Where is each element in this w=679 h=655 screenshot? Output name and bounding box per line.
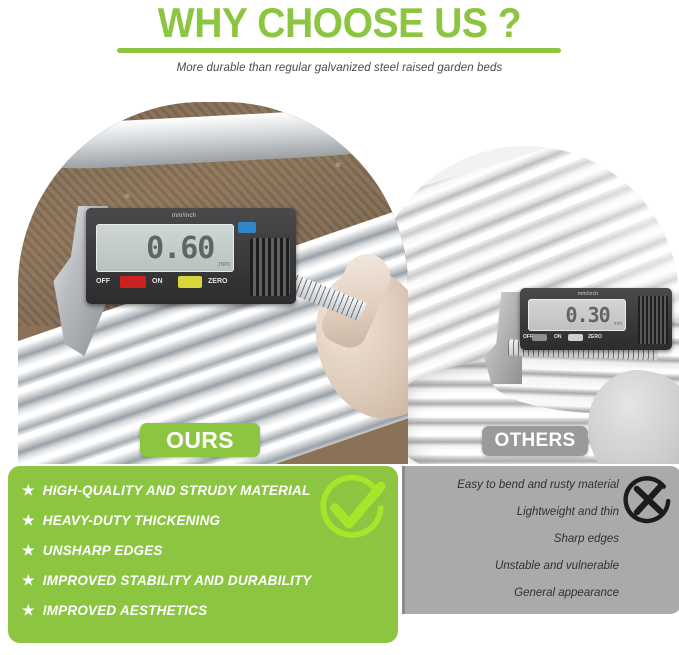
others-list-item: General appearance	[411, 580, 619, 607]
ours-caliper-body: mm/inch 0.60 mm OFF ON ZERO	[86, 208, 296, 304]
others-digital-caliper: mm/inch 0.30 mm OFF ON ZERO	[492, 286, 672, 368]
ours-list-item-label: HEAVY-DUTY THICKENING	[43, 513, 220, 528]
ours-list-item: ★ HIGH-QUALITY AND STRUDY MATERIAL	[22, 475, 390, 505]
ours-list-item-label: UNSHARP EDGES	[43, 543, 163, 558]
ours-caliper-off-button	[120, 276, 146, 288]
others-product-photo: mm/inch 0.30 mm OFF ON ZERO	[372, 146, 679, 464]
page-title: WHY CHOOSE US ?	[24, 1, 655, 45]
ours-badge: OURS	[140, 423, 260, 457]
others-caliper-on-label: ON	[554, 334, 562, 340]
others-caliper-unit: mm	[614, 321, 625, 330]
others-caliper-off-button	[532, 334, 547, 341]
others-list-item: Easy to bend and rusty material	[411, 472, 619, 499]
page-subtitle: More durable than regular galvanized ste…	[0, 62, 679, 74]
others-badge: OTHERS	[482, 426, 588, 456]
others-list-item: Unstable and vulnerable	[411, 553, 619, 580]
ours-caliper-reading: 0.60	[146, 231, 218, 266]
others-caliper-off-label: OFF	[523, 334, 533, 340]
ours-caliper-brand: mm/inch	[172, 213, 196, 219]
header: WHY CHOOSE US ? More durable than regula…	[0, 0, 679, 92]
ours-caliper-off-label: OFF	[96, 278, 110, 285]
x-circle-icon	[620, 472, 676, 528]
others-caliper-grip	[638, 296, 668, 344]
star-icon: ★	[22, 483, 35, 497]
ours-product-photo: mm/inch 0.60 mm OFF ON ZERO	[18, 102, 408, 464]
ours-list-item-label: IMPROVED STABILITY AND DURABILITY	[43, 573, 312, 588]
ours-caliper-zero-button	[178, 276, 202, 288]
ours-caliper-zero-label: ZERO	[208, 278, 227, 285]
ours-list-item-label: HIGH-QUALITY AND STRUDY MATERIAL	[43, 483, 311, 498]
ours-caliper-screen: 0.60 mm	[96, 224, 234, 272]
ours-list-item: ★ HEAVY-DUTY THICKENING	[22, 505, 390, 535]
ours-feature-panel: ★ HIGH-QUALITY AND STRUDY MATERIAL ★ HEA…	[8, 466, 398, 643]
comparison-photos: mm/inch 0.30 mm OFF ON ZERO m	[0, 96, 679, 464]
ours-caliper-on-label: ON	[152, 278, 163, 285]
others-caliper-zero-button	[568, 334, 583, 341]
ours-caliper-grip	[250, 238, 290, 296]
star-icon: ★	[22, 543, 35, 557]
ours-digital-caliper: mm/inch 0.60 mm OFF ON ZERO	[38, 200, 368, 330]
others-caliper-brand: mm/inch	[578, 291, 598, 297]
ours-list-item-label: IMPROVED AESTHETICS	[43, 603, 208, 618]
others-list-item: Sharp edges	[411, 526, 619, 553]
others-caliper-body: mm/inch 0.30 mm OFF ON ZERO	[520, 288, 672, 350]
ours-list-item: ★ UNSHARP EDGES	[22, 535, 390, 565]
others-list-item: Lightweight and thin	[411, 499, 619, 526]
ours-list-item: ★ IMPROVED STABILITY AND DURABILITY	[22, 565, 390, 595]
ours-list-item: ★ IMPROVED AESTHETICS	[22, 595, 390, 625]
others-caliper-screen: 0.30 mm	[528, 299, 626, 331]
star-icon: ★	[22, 573, 35, 587]
others-caliper-reading: 0.30	[565, 303, 613, 327]
star-icon: ★	[22, 603, 35, 617]
others-caliper-zero-label: ZERO	[588, 334, 602, 340]
title-underline-rule	[117, 48, 561, 53]
ours-feature-list: ★ HIGH-QUALITY AND STRUDY MATERIAL ★ HEA…	[22, 475, 390, 625]
others-feature-panel: Easy to bend and rusty material Lightwei…	[402, 466, 679, 614]
ours-caliper-blue-button	[238, 222, 256, 233]
star-icon: ★	[22, 513, 35, 527]
others-feature-list: Easy to bend and rusty material Lightwei…	[411, 472, 619, 607]
ours-caliper-unit: mm	[218, 261, 233, 271]
